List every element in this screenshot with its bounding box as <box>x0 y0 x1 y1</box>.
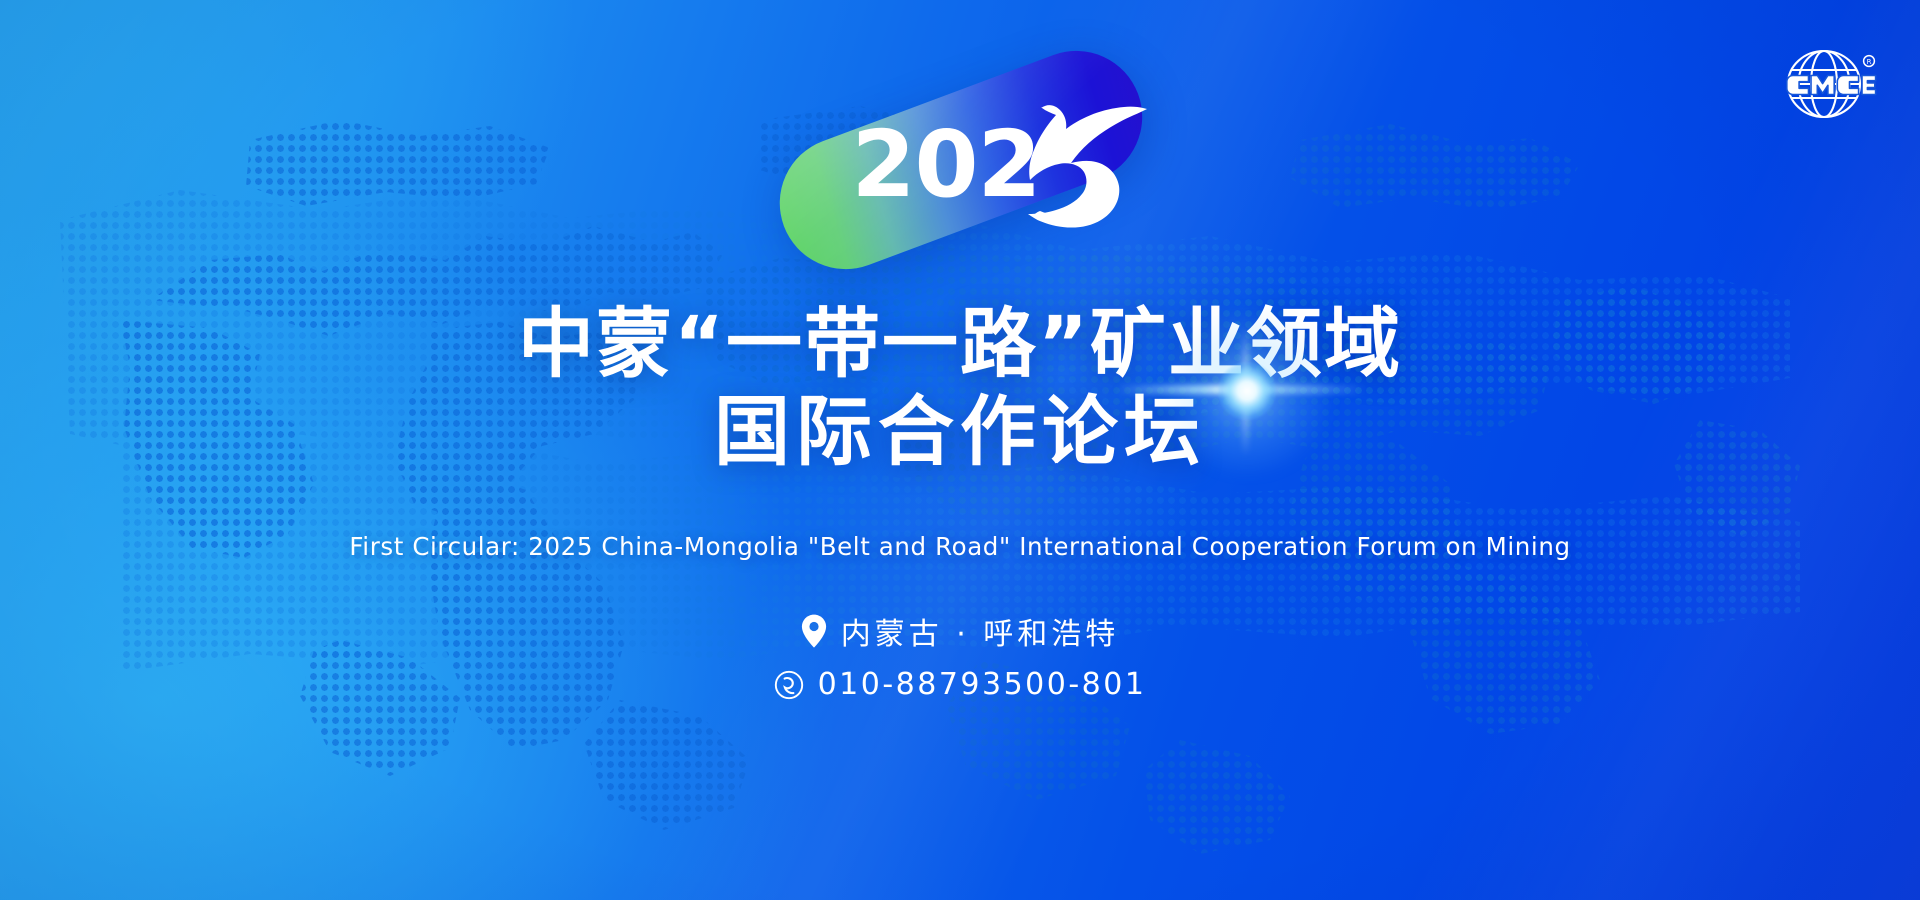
event-banner: R CMCC 202 2025 中蒙“一带一路”矿业领域 国际合作论坛 Firs… <box>0 0 1920 900</box>
brush-stroke-five-icon <box>1018 92 1168 242</box>
event-location: 内蒙古 · 呼和浩特 <box>801 609 1120 653</box>
event-phone-text: 010-88793500-801 <box>818 667 1147 702</box>
page-title: 中蒙“一带一路”矿业领域 国际合作论坛 <box>518 300 1402 476</box>
page-subtitle-english: First Circular: 2025 China-Mongolia "Bel… <box>349 532 1570 561</box>
telephone-icon <box>774 670 804 700</box>
map-pin-icon <box>801 614 827 648</box>
event-meta: 内蒙古 · 呼和浩特 010-88793500-801 <box>774 609 1147 702</box>
year-badge-2025: 202 2025 <box>750 56 1170 266</box>
event-location-text: 内蒙古 · 呼和浩特 <box>841 609 1120 653</box>
banner-copy: 中蒙“一带一路”矿业领域 国际合作论坛 First Circular: 2025… <box>0 300 1920 702</box>
page-title-line-2: 国际合作论坛 <box>518 388 1402 476</box>
page-title-line-1: 中蒙“一带一路”矿业领域 <box>518 300 1402 388</box>
cmcc-logo: R CMCC <box>1770 32 1882 128</box>
svg-text:R: R <box>1867 58 1872 66</box>
event-phone: 010-88793500-801 <box>774 667 1147 702</box>
year-badge-digits-text: 202 <box>851 119 1040 211</box>
